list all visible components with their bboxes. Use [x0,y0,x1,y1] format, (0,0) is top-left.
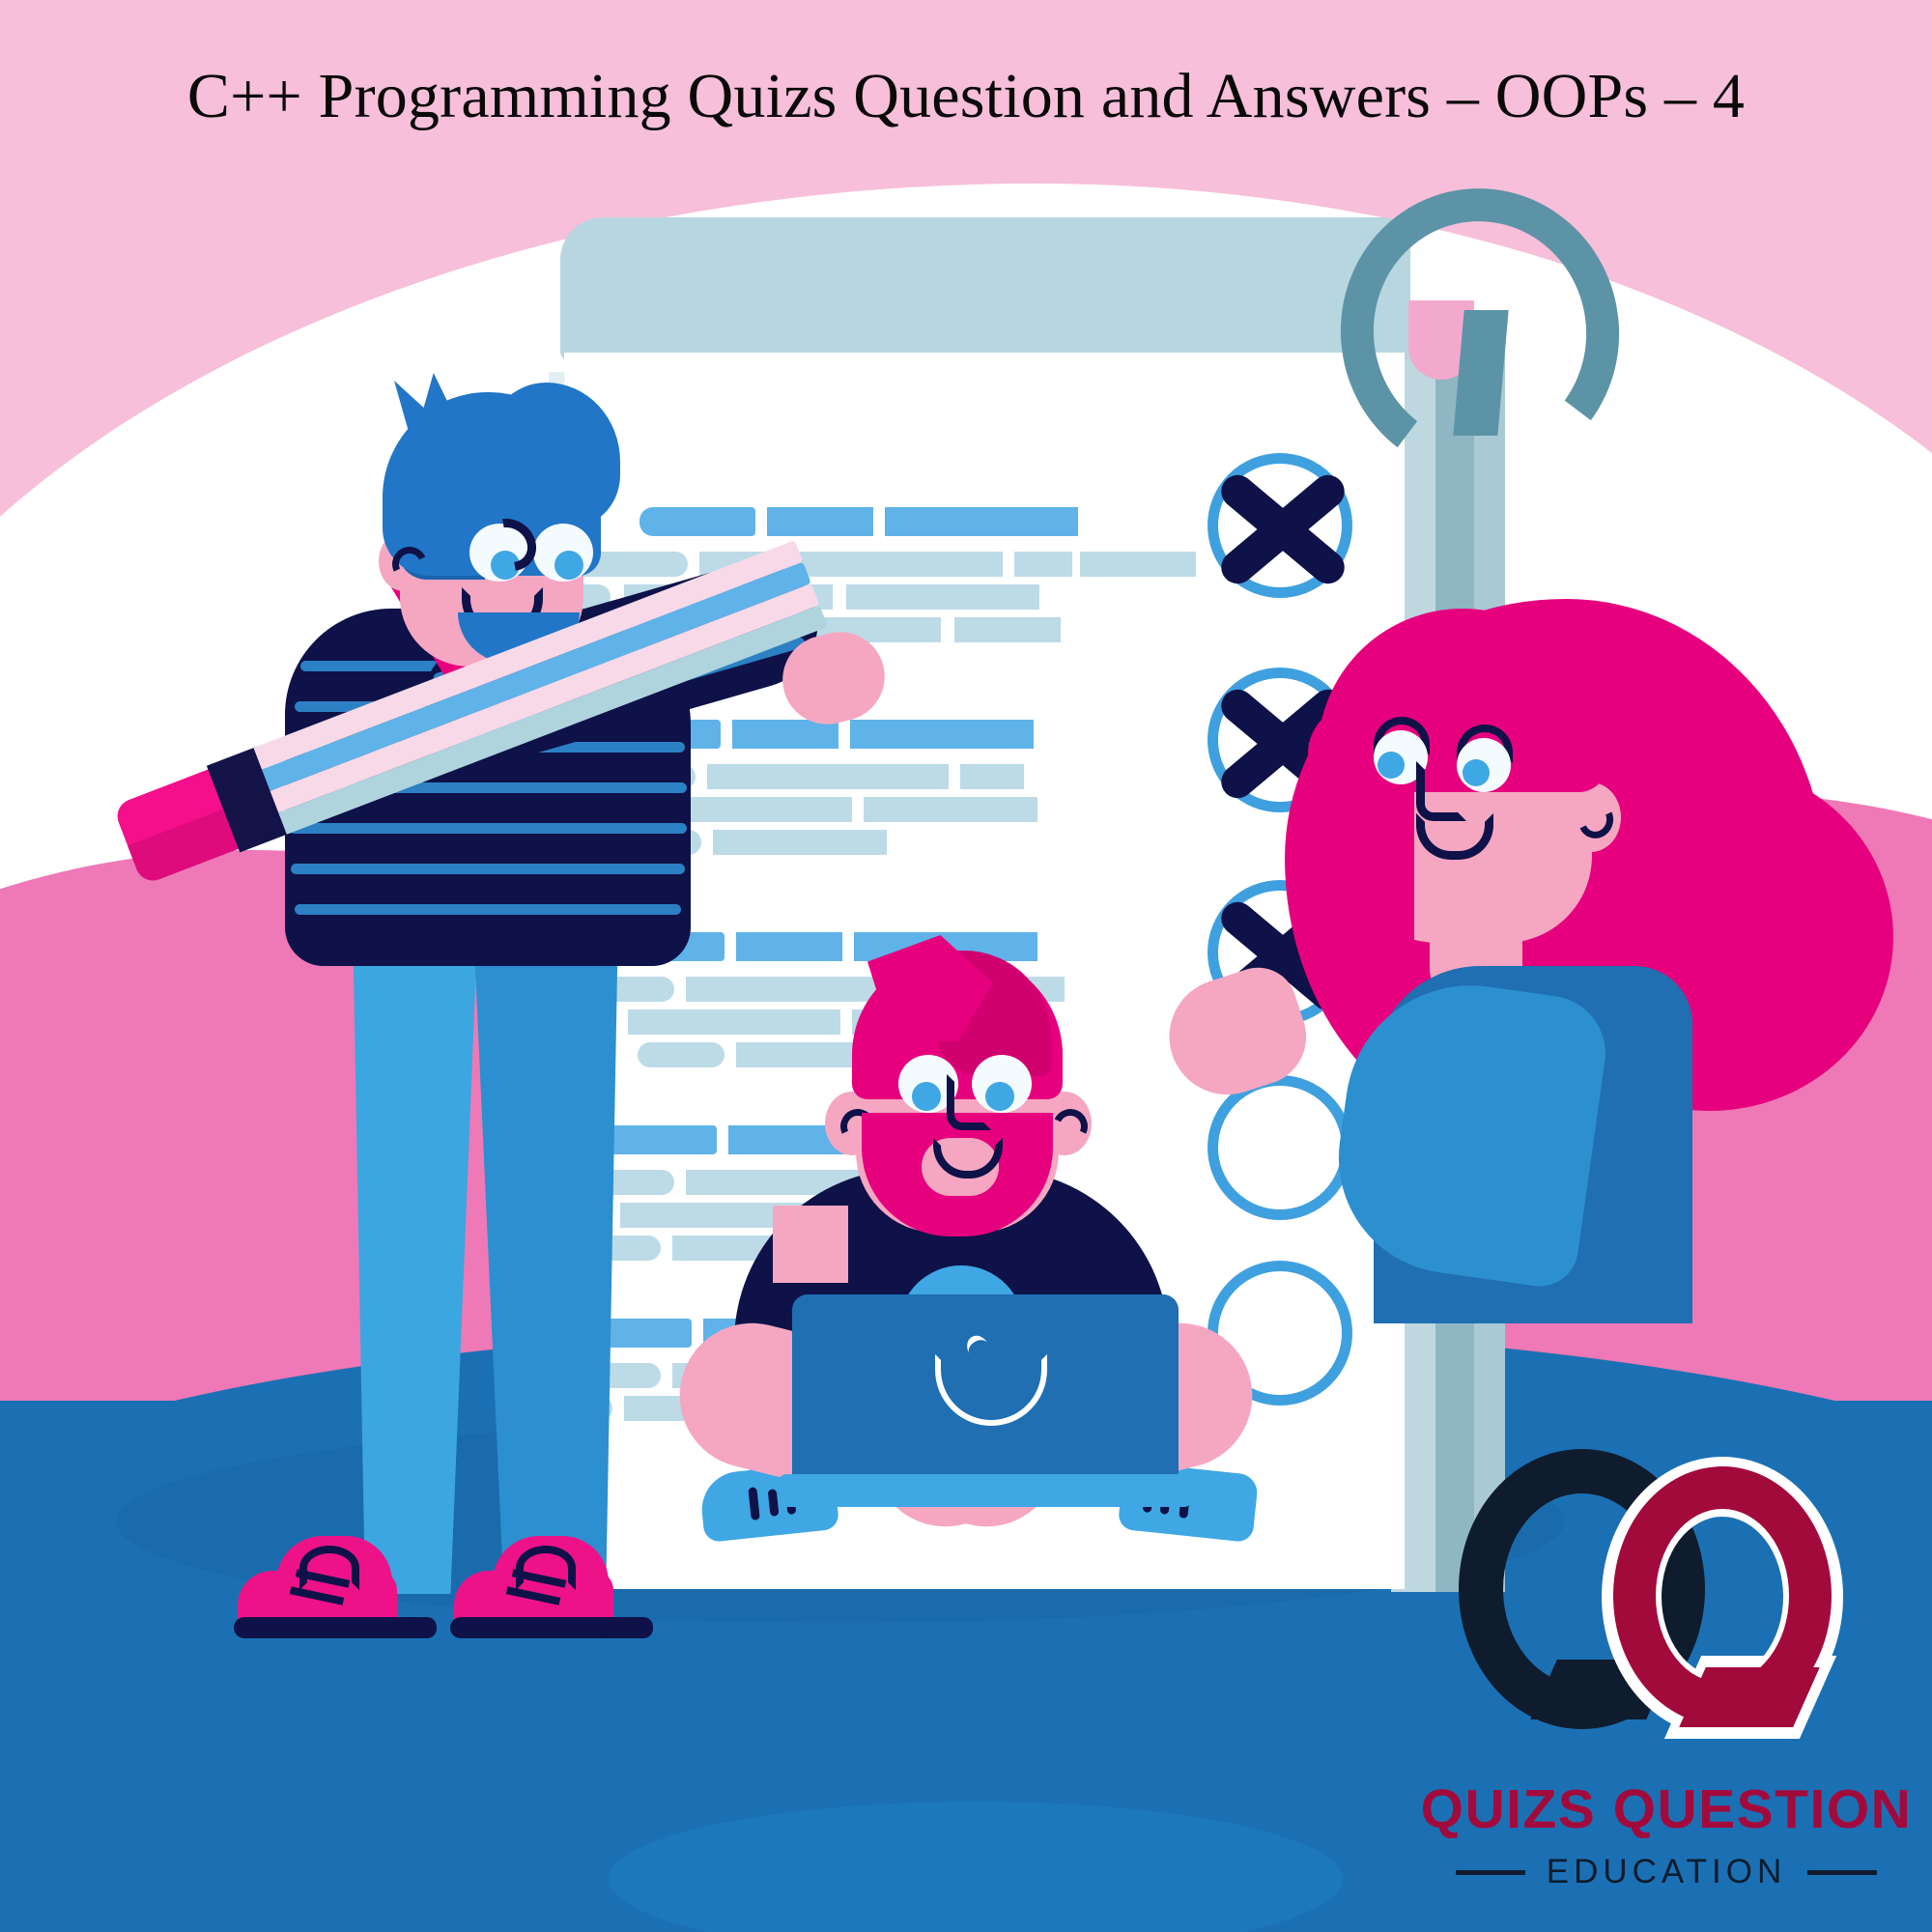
text-bar-body [960,764,1024,789]
text-bar-body [954,617,1061,642]
logo-tagline-row: EDUCATION [1410,1853,1922,1891]
page-title: C++ Programming Quizs Question and Answe… [0,60,1932,133]
brand-logo: QUIZS QUESTION EDUCATION [1439,1449,1893,1913]
laptop[interactable] [792,1294,1179,1517]
boot-right [454,1536,633,1642]
text-bar-body [864,797,1037,822]
logo-tagline: EDUCATION [1547,1853,1787,1891]
x-icon [1184,424,1378,617]
head [819,947,1090,1256]
pupil-right [554,551,583,580]
pupil-left [912,1082,941,1111]
character-peeking-woman [1285,599,1884,1314]
laptop-base [779,1474,1192,1507]
logo-brand-name: QUIZS QUESTION [1410,1777,1922,1841]
illustration-canvas: C++ Programming Quizs Question and Answe… [0,0,1932,1932]
tagline-dash-right [1807,1870,1877,1875]
pupil-right [1463,759,1490,786]
pupil-left [1378,752,1405,779]
paper-top-band [560,217,1410,362]
tagline-dash-left [1456,1870,1525,1875]
text-bar-header [885,507,1078,536]
answer-option-1[interactable] [1207,453,1352,598]
leg-left [353,918,478,1594]
text-bar-body [1014,552,1072,577]
text-bar-body [1080,552,1196,577]
nose [1416,761,1466,821]
leg-right [464,918,618,1594]
nose [947,1074,991,1130]
boot-left [238,1536,416,1642]
